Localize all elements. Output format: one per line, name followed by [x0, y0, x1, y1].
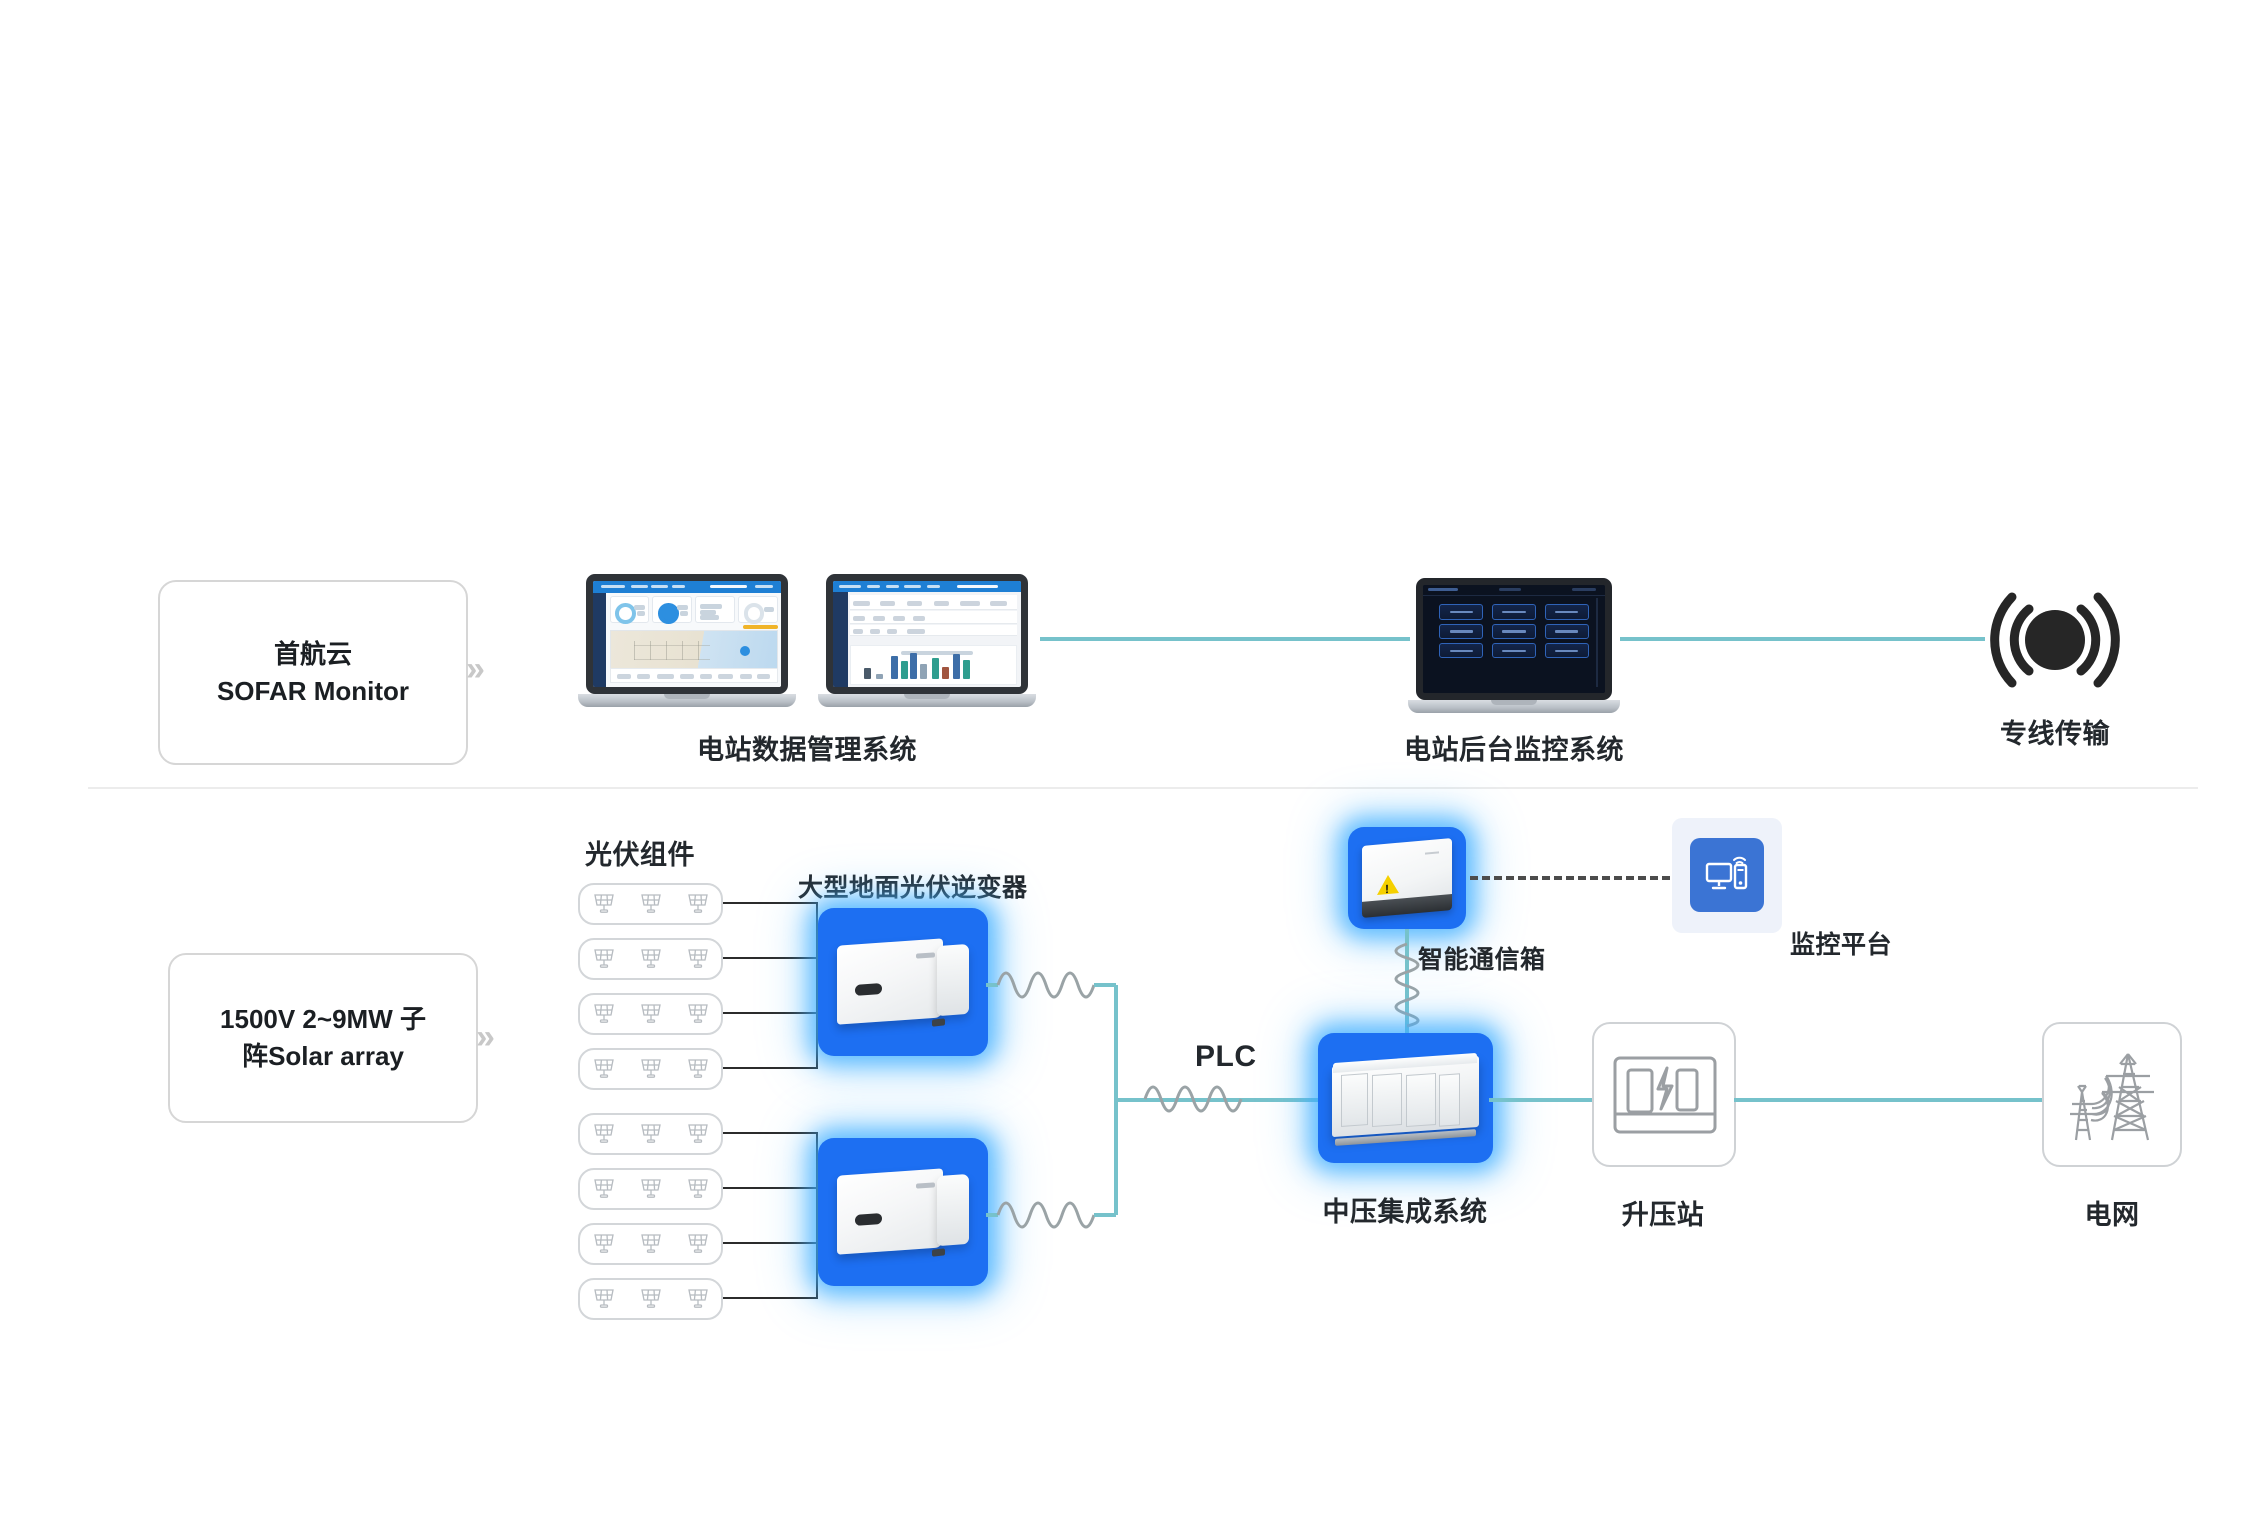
inverter-unit-1[interactable]: [818, 908, 988, 1056]
substation-card[interactable]: [1592, 1022, 1736, 1167]
solar-panel-icon: [591, 891, 617, 917]
stage-box-solar-array[interactable]: 1500V 2~9MW 子 阵Solar array: [168, 953, 478, 1123]
coil-inverter-2: [986, 1185, 1116, 1245]
stage-array-line2: 阵Solar array: [242, 1041, 404, 1071]
string-inverter-icon: [837, 1166, 970, 1258]
console-tile[interactable]: [1492, 604, 1536, 619]
bracket-line: [723, 1132, 817, 1134]
solar-panel-icon: [685, 946, 711, 972]
desktop-monitor-wifi-icon: [1704, 855, 1750, 895]
link-backend-to-line: [1620, 637, 1985, 641]
pv-module-row[interactable]: [578, 1223, 723, 1265]
label-grid: 电网: [2032, 1193, 2192, 1232]
mv-container-skid-icon: [1332, 1058, 1479, 1139]
laptop-data-dashboard[interactable]: [578, 574, 796, 714]
console-tile[interactable]: [1439, 643, 1483, 658]
bracket-line: [723, 1012, 817, 1014]
screen-backend-console: [1423, 585, 1605, 693]
link-data-to-backend: [1040, 637, 1410, 641]
label-large-ground-inverter: 大型地面光伏逆变器: [798, 868, 1048, 904]
broadcast-signal-icon: [1985, 585, 2125, 695]
diagram-canvas: 首航云 SOFAR Monitor »: [0, 0, 2265, 1530]
solar-panel-icon: [685, 1121, 711, 1147]
solar-panel-icon: [638, 1231, 664, 1257]
console-tile[interactable]: [1545, 643, 1589, 658]
coil-inverter-1: [986, 955, 1116, 1015]
console-tile[interactable]: [1439, 624, 1483, 639]
pv-module-row[interactable]: [578, 1278, 723, 1320]
solar-panel-icon: [591, 1231, 617, 1257]
pv-module-row[interactable]: [578, 1048, 723, 1090]
solar-panel-icon: [685, 1001, 711, 1027]
monitor-platform-tile[interactable]: [1690, 838, 1764, 912]
console-tile[interactable]: [1545, 604, 1589, 619]
coil-comm-vertical: [1380, 940, 1434, 1030]
solar-panel-icon: [638, 1121, 664, 1147]
label-dedicated-line-transmission: 专线传输: [1960, 712, 2150, 751]
stage-box-solar-array-text: 1500V 2~9MW 子 阵Solar array: [206, 1001, 440, 1075]
chevron-right-icon-cloud: »: [466, 652, 485, 686]
console-tile[interactable]: [1439, 604, 1483, 619]
stage-label-line2: SOFAR Monitor: [217, 676, 409, 706]
section-divider: [88, 787, 2198, 789]
stage-array-line1: 1500V 2~9MW 子: [220, 1004, 426, 1034]
transmission-tower-icon: [2058, 1044, 2170, 1148]
label-monitor-platform: 监控平台: [1790, 925, 1950, 961]
pv-module-row[interactable]: [578, 883, 723, 925]
bracket-line: [723, 1297, 817, 1299]
chevron-right-icon-array: »: [476, 1020, 495, 1054]
string-inverter-icon: [837, 936, 970, 1028]
solar-panel-icon: [591, 1056, 617, 1082]
solar-panel-icon: [685, 1286, 711, 1312]
label-plc: PLC: [1195, 1040, 1285, 1074]
solar-panel-icon: [591, 946, 617, 972]
solar-panel-icon: [591, 1286, 617, 1312]
console-tile[interactable]: [1492, 624, 1536, 639]
screen-table-chart: [833, 581, 1021, 687]
bracket-line: [723, 1242, 817, 1244]
link-substation-to-grid: [1734, 1098, 2064, 1102]
label-data-management-system: 电站数据管理系统: [578, 728, 1036, 767]
smart-communication-box[interactable]: [1348, 827, 1466, 929]
pv-module-row[interactable]: [578, 993, 723, 1035]
pv-module-row[interactable]: [578, 1168, 723, 1210]
laptop-backend-monitor[interactable]: [1408, 578, 1620, 720]
coil-plc: [1135, 1070, 1265, 1128]
solar-panel-icon: [685, 1176, 711, 1202]
stage-box-sofar-cloud[interactable]: 首航云 SOFAR Monitor: [158, 580, 468, 765]
solar-panel-icon: [638, 891, 664, 917]
solar-panel-icon: [591, 1176, 617, 1202]
bracket-line: [723, 1187, 817, 1189]
solar-panel-icon: [638, 1286, 664, 1312]
solar-panel-icon: [591, 1001, 617, 1027]
console-tile[interactable]: [1492, 643, 1536, 658]
grid-card[interactable]: [2042, 1022, 2182, 1167]
inverter-unit-2[interactable]: [818, 1138, 988, 1286]
solar-panel-icon: [685, 891, 711, 917]
stage-box-sofar-cloud-text: 首航云 SOFAR Monitor: [203, 636, 423, 710]
bracket-line: [723, 957, 817, 959]
laptop-data-reports[interactable]: [818, 574, 1036, 714]
solar-panel-icon: [685, 1056, 711, 1082]
mv-integrated-system[interactable]: [1318, 1033, 1493, 1163]
solar-panel-icon: [638, 1176, 664, 1202]
solar-panel-icon: [638, 946, 664, 972]
solar-panel-icon: [685, 1231, 711, 1257]
label-smart-communication-box: 智能通信箱: [1418, 940, 1598, 976]
label-substation: 升压站: [1578, 1193, 1748, 1232]
label-backend-monitor-system: 电站后台监控系统: [1374, 728, 1654, 767]
stage-label-line1: 首航云: [274, 639, 352, 669]
plc-to-mv-link: [1258, 1098, 1322, 1102]
console-tile-grid: [1439, 604, 1588, 658]
label-mv-integrated-system: 中压集成系统: [1300, 1190, 1510, 1229]
pv-module-row[interactable]: [578, 1113, 723, 1155]
smart-communication-box-icon: [1362, 842, 1452, 913]
solar-panel-icon: [591, 1121, 617, 1147]
console-tile[interactable]: [1545, 624, 1589, 639]
solar-panel-icon: [638, 1001, 664, 1027]
substation-transformer-icon: [1611, 1052, 1721, 1142]
screen-dashboard-map: [593, 581, 781, 687]
label-pv-modules: 光伏组件: [585, 833, 765, 872]
dashed-link-comm-to-platform: [1470, 876, 1670, 880]
pv-module-row[interactable]: [578, 938, 723, 980]
solar-panel-icon: [638, 1056, 664, 1082]
bracket-line: [723, 1067, 817, 1069]
